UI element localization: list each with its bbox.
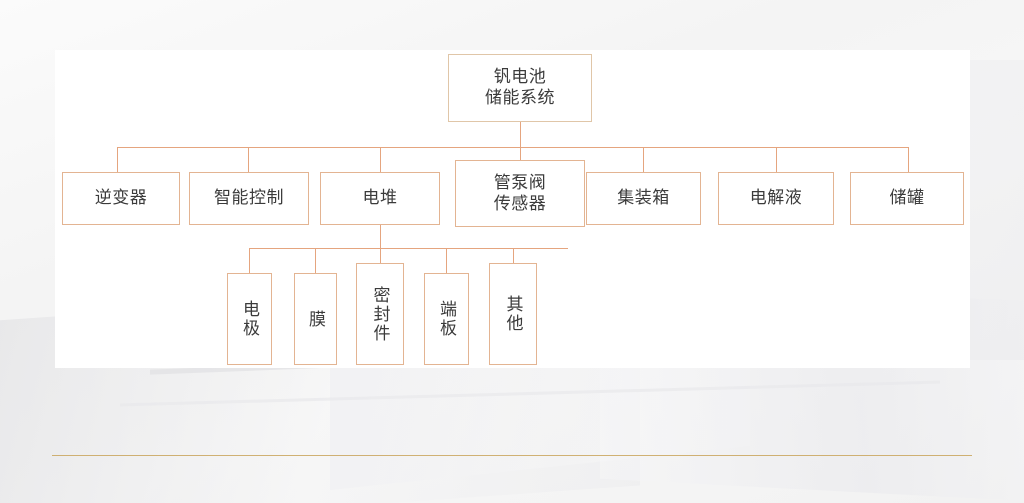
connector-drop-tank (908, 147, 909, 172)
tree-node-control[interactable]: 智能控制 (189, 172, 309, 225)
tree-node-other[interactable]: 其他 (489, 263, 537, 365)
tree-node-tank[interactable]: 储罐 (850, 172, 964, 225)
connector-drop-electrolyte (776, 147, 777, 172)
tree-node-inverter[interactable]: 逆变器 (62, 172, 180, 225)
tree-node-stack[interactable]: 电堆 (320, 172, 440, 225)
tree-node-endplate[interactable]: 端板 (424, 273, 469, 365)
tree-node-seal[interactable]: 密封件 (356, 263, 404, 365)
tree-node-electrolyte[interactable]: 电解液 (718, 172, 834, 225)
tree-node-container[interactable]: 集装箱 (586, 172, 701, 225)
connector-root-stem (520, 122, 521, 147)
slide-canvas: 钒电池 储能系统 逆变器 智能控制 电堆 管泵阀 传感器 集装箱 电解液 储罐 … (0, 0, 1024, 503)
connector-level3-bus (249, 248, 568, 249)
tree-node-root[interactable]: 钒电池 储能系统 (448, 54, 592, 122)
connector-drop-stack (380, 147, 381, 172)
tree-node-electrode[interactable]: 电极 (227, 273, 272, 365)
bottom-gold-divider (52, 455, 972, 456)
connector-stack-stem (380, 225, 381, 248)
connector-drop-electrode (249, 248, 250, 273)
connector-drop-control (248, 147, 249, 172)
tree-node-membrane[interactable]: 膜 (294, 273, 337, 365)
connector-level2-bus (117, 147, 908, 148)
tree-node-pipe-pump[interactable]: 管泵阀 传感器 (455, 160, 585, 227)
diagram-panel: 钒电池 储能系统 逆变器 智能控制 电堆 管泵阀 传感器 集装箱 电解液 储罐 … (55, 50, 970, 368)
connector-drop-endplate (446, 248, 447, 273)
connector-drop-container (643, 147, 644, 172)
connector-drop-membrane (315, 248, 316, 273)
connector-drop-inverter (117, 147, 118, 172)
